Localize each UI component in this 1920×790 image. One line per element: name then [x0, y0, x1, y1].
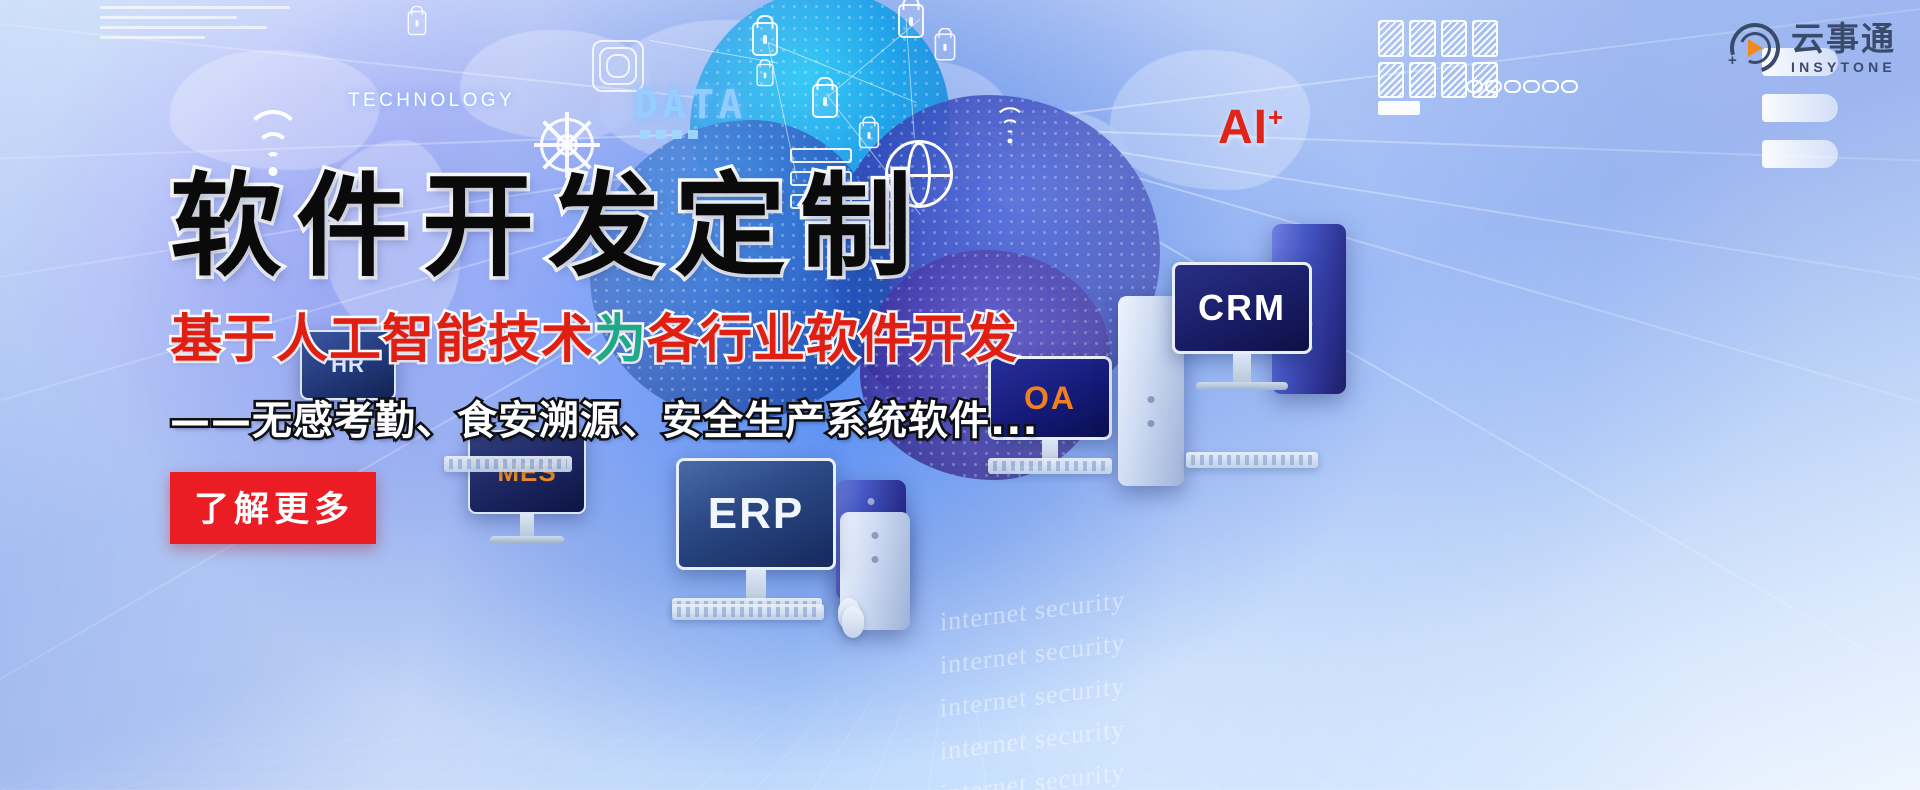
lock-node-icon — [935, 33, 956, 60]
wifi-icon-small — [991, 113, 1030, 144]
logo-english-name: INSYTONE — [1791, 60, 1896, 74]
crm-screen-label: CRM — [1172, 262, 1312, 354]
hero-banner: TECHNOLOGY DATA AI+ HR MES ERP OA CRM — [0, 0, 1920, 790]
data-label-dots — [640, 130, 698, 139]
perspective-grid-floor — [0, 699, 1920, 790]
logo-chinese-name: 云事通 — [1791, 22, 1896, 55]
data-label: DATA — [634, 82, 746, 128]
subtitle-accent-word: 为 — [594, 310, 647, 370]
subtitle-part-1: 基于人工智能技术 — [170, 310, 594, 370]
ai-plus-superscript: + — [1268, 102, 1284, 132]
tiles-bar-graphic — [1378, 101, 1420, 115]
brand-logo[interactable]: + 云事通 INSYTONE — [1730, 22, 1896, 74]
lock-node-icon — [408, 11, 427, 35]
mouse-bottom — [842, 606, 864, 638]
play-in-circle-icon: + — [1730, 23, 1780, 73]
ai-text: AI — [1218, 101, 1268, 154]
keyboard-crm — [1186, 452, 1318, 468]
hud-panel-graphic — [100, 6, 290, 66]
learn-more-button[interactable]: 了解更多 — [170, 472, 376, 544]
hero-copy: 软件开发定制 基于人工智能技术为各行业软件开发 ——无感考勤、食安溯源、安全生产… — [170, 168, 1170, 544]
technology-label: TECHNOLOGY — [348, 90, 515, 112]
watermark-line: internet security — [940, 561, 1620, 687]
crm-monitor: CRM — [1172, 262, 1312, 390]
page-title: 软件开发定制 — [170, 168, 1170, 287]
subtitle-part-2: 各行业软件开发 — [647, 310, 1018, 370]
chain-link-icon — [1466, 80, 1578, 93]
hero-tagline: ——无感考勤、食安溯源、安全生产系统软件... — [170, 388, 1170, 446]
keyboard-bottom — [672, 604, 824, 620]
hero-subtitle: 基于人工智能技术为各行业软件开发 — [170, 297, 1170, 372]
ai-plus-label: AI+ — [1218, 100, 1284, 155]
